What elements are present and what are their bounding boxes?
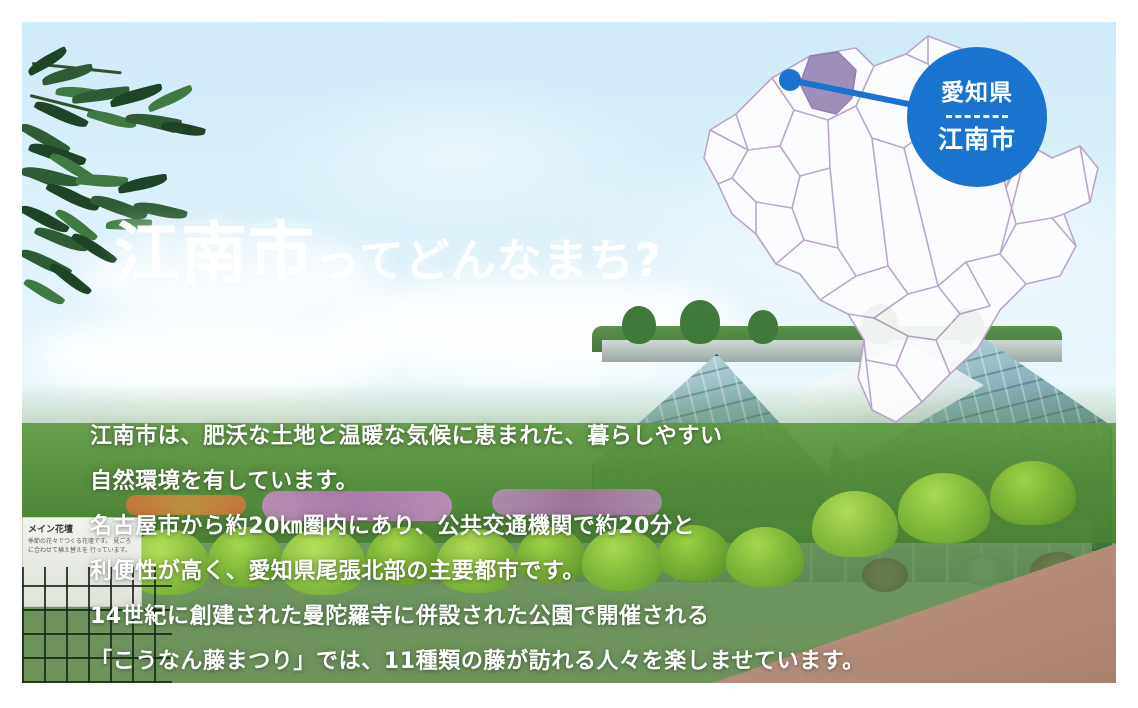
page-title-sub: ってどんなまち?: [315, 234, 662, 287]
description-line: 「こうなん藤まつり」では、11種類の藤が訪れる人々を楽しませています。: [90, 639, 990, 683]
description-line: 自然環境を有しています。: [90, 459, 990, 504]
description-line: 江南市は、肥沃な土地と温暖な気候に恵まれた、暮らしやすい: [90, 414, 990, 459]
page-title-main: 江南市: [114, 215, 315, 292]
roof-tree-2: [680, 300, 720, 344]
badge-divider: [946, 115, 1008, 118]
roof-tree-1: [622, 306, 656, 344]
description-line: 利便性が高く、愛知県尾張北部の主要都市です。: [90, 549, 990, 594]
badge-prefecture-label: 愛知県: [941, 81, 1013, 106]
hero-photo: メイン花壇 季節の花々でつくる花壇です。 見ごろに合わせて植え替えを 行っていま…: [22, 22, 1116, 683]
description-line: 名古屋市から約20㎞圏内にあり、公共交通機関で約20分と: [90, 504, 990, 549]
roof-tree-3: [748, 310, 778, 344]
page-title: 江南市ってどんなまち?: [114, 200, 662, 296]
description-text: 江南市は、肥沃な土地と温暖な気候に恵まれた、暮らしやすい 自然環境を有しています…: [90, 414, 990, 683]
kochia-bush: [990, 461, 1076, 525]
location-badge: 愛知県 江南市: [907, 47, 1047, 187]
description-line: 14世紀に創建された曼陀羅寺に併設された公園で開催される: [90, 594, 990, 639]
roof-tree-4: [862, 304, 898, 344]
page-root: メイン花壇 季節の花々でつくる花壇です。 見ごろに合わせて植え替えを 行っていま…: [0, 0, 1138, 708]
badge-city-label: 江南市: [938, 126, 1016, 154]
